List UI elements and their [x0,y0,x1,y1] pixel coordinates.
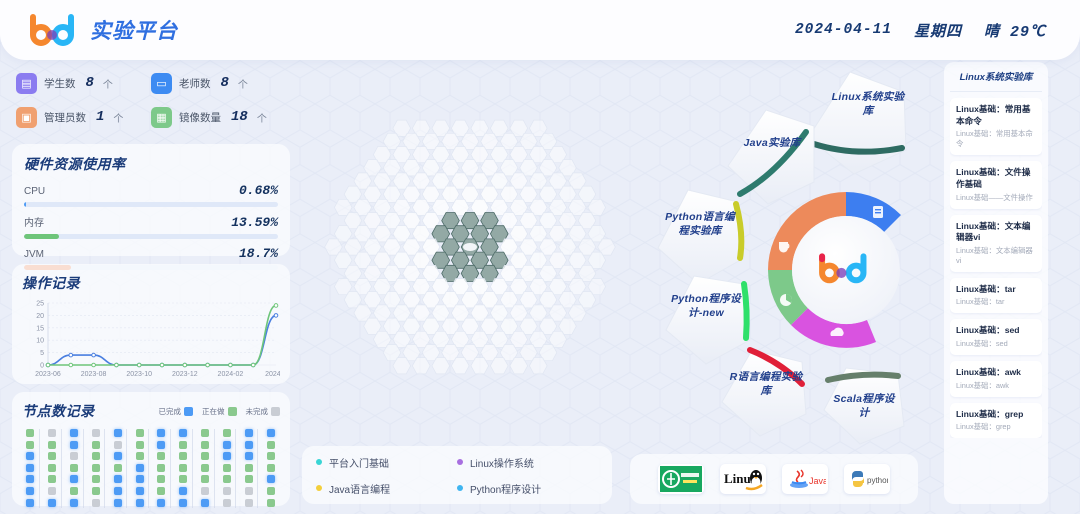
lab-list-item[interactable]: Linux基础：awkLinux基础：awk [950,361,1042,397]
hardware-usage-panel: 硬件资源使用率 CPU 0.68% 内存 13.59% JVM 18.7% [12,144,290,256]
lab-item-title: Linux基础：sed [956,325,1036,337]
node-cell[interactable] [48,499,56,507]
course-legend-item[interactable]: 平台入门基础 [316,455,457,470]
lab-item-subtitle: Linux基础：grep [956,422,1036,432]
usage-bar-memory: 内存 13.59% [24,214,278,239]
legend-todo: 未完成 [246,406,281,417]
lab-item-title: Linux基础：常用基本命令 [956,104,1036,127]
node-cell[interactable] [92,464,100,472]
node-cell[interactable] [267,441,275,449]
stat-label: 管理员数 [44,110,86,125]
node-cell[interactable] [245,499,253,507]
stat-images: ▦ 镜像数量 18 个 [151,102,286,132]
node-cell[interactable] [92,499,100,507]
lab-list-item[interactable]: Linux基础：常用基本命令Linux基础：常用基本命令 [950,98,1042,155]
stat-admins: ▣ 管理员数 1 个 [16,102,151,132]
node-grid [22,429,280,508]
node-cell[interactable] [223,441,231,449]
legend-label: 已完成 [159,406,182,417]
hex-map[interactable] [300,72,640,432]
node-cell[interactable] [92,487,100,495]
node-cell[interactable] [70,499,78,507]
node-cell[interactable] [157,452,165,460]
donut-icon-book [873,206,883,218]
legend-swatch [184,407,193,416]
node-cell[interactable] [136,464,144,472]
node-cell[interactable] [179,487,187,495]
node-cell[interactable] [157,441,165,449]
campus-logo-icon[interactable] [658,464,704,494]
java-logo-icon[interactable]: Java [782,464,828,494]
node-cell[interactable] [245,487,253,495]
node-cell[interactable] [201,499,209,507]
node-cell[interactable] [223,475,231,483]
node-cell[interactable] [157,464,165,472]
pentagon-java[interactable] [728,110,814,204]
lab-item-subtitle: Linux基础：常用基本命令 [956,129,1036,149]
svg-text:Java: Java [809,476,826,486]
course-legend-item[interactable]: Java语言编程 [316,481,457,496]
node-cell[interactable] [26,499,34,507]
node-cell[interactable] [70,475,78,483]
panel-title: 硬件资源使用率 [24,154,278,174]
node-cell[interactable] [245,464,253,472]
lab-list-item[interactable]: Linux基础：sedLinux基础：sed [950,319,1042,355]
node-cell[interactable] [70,441,78,449]
node-cell[interactable] [267,429,275,437]
svg-text:2024-0: 2024-0 [265,371,280,378]
operation-log-chart: 05101520252023-062023-082023-102023-1220… [22,295,280,383]
node-cell[interactable] [26,464,34,472]
node-cell[interactable] [136,452,144,460]
usage-value: 0.68% [239,183,278,198]
usage-value: 13.59% [231,215,278,230]
node-cell[interactable] [92,429,100,437]
node-cell[interactable] [245,475,253,483]
donut-chart[interactable] [768,192,901,348]
stat-label: 学生数 [44,76,76,91]
node-cell[interactable] [157,499,165,507]
course-legend-panel: 平台入门基础 Linux操作系统 Java语言编程 Python程序设计 [302,446,612,504]
node-cell[interactable] [157,487,165,495]
lab-list-item[interactable]: Linux基础：tarLinux基础：tar [950,278,1042,314]
operation-log-panel: 操作记录 05101520252023-062023-082023-102023… [12,264,290,384]
stat-value: 8 [86,75,94,91]
stat-value: 8 [221,75,229,91]
node-cell[interactable] [114,441,122,449]
app-header: 实验平台 2024-04-11 星期四 晴 29℃ [0,0,1080,60]
progress-track [24,202,278,207]
node-cell[interactable] [223,452,231,460]
stat-unit: 个 [238,76,248,91]
lab-item-title: Linux基础：awk [956,367,1036,379]
stat-value: 18 [231,109,248,125]
svg-text:2023-12: 2023-12 [172,371,198,378]
node-cell[interactable] [223,429,231,437]
stat-teachers: ▭ 老师数 8 个 [151,68,286,98]
node-cell[interactable] [26,452,34,460]
weather-info: 晴 29℃ [984,20,1046,41]
stat-students: ▤ 学生数 8 个 [16,68,151,98]
svg-text:python: python [867,476,888,485]
stat-unit: 个 [257,110,267,125]
node-cell[interactable] [26,487,34,495]
pentagon-scala[interactable] [824,368,904,444]
svg-text:2023-06: 2023-06 [35,371,61,378]
node-cell[interactable] [267,452,275,460]
brand[interactable]: 实验平台 [26,13,178,47]
stat-label: 老师数 [179,76,211,91]
svg-text:15: 15 [36,325,44,332]
bd-logo-icon [26,13,78,47]
node-column [22,429,40,508]
node-cell[interactable] [70,429,78,437]
course-dot-icon [457,459,463,465]
node-cell[interactable] [179,475,187,483]
legend-swatch [228,407,237,416]
node-column [109,429,127,508]
node-cell[interactable] [92,452,100,460]
node-cell[interactable] [179,441,187,449]
node-cell[interactable] [48,487,56,495]
node-column [219,429,237,508]
header-info: 2024-04-11 星期四 晴 29℃ [795,20,1046,41]
node-cell[interactable] [114,464,122,472]
svg-text:2023-08: 2023-08 [81,371,107,378]
node-cell[interactable] [136,429,144,437]
legend-doing: 正在做 [202,406,237,417]
node-cell[interactable] [48,464,56,472]
node-cell[interactable] [70,452,78,460]
node-cell[interactable] [201,452,209,460]
progress-fill [24,202,26,207]
course-label: Python程序设计 [470,481,541,496]
node-cell[interactable] [92,475,100,483]
svg-text:2023-10: 2023-10 [126,371,152,378]
lab-item-title: Linux基础：文本编辑器vi [956,221,1036,244]
lab-library-cluster: Linux系统实验库 Java实验库 Python语言编程实验库 Python程… [648,62,948,442]
panel-title: 节点数记录 [22,401,95,421]
node-column [153,429,171,508]
lab-item-title: Linux基础：文件操作基础 [956,167,1036,190]
hex-map-marker[interactable] [463,243,477,251]
node-cell[interactable] [48,441,56,449]
node-legend: 已完成 正在做 未完成 [159,406,281,417]
stat-label: 镜像数量 [179,110,221,125]
lab-list-item[interactable]: Linux基础：文件操作基础Linux基础——文件操作 [950,161,1042,208]
node-column [262,429,280,508]
course-dot-icon [316,459,322,465]
legend-done: 已完成 [159,406,194,417]
progress-fill [24,234,59,239]
node-record-panel: 节点数记录 已完成 正在做 未完成 [12,392,290,506]
node-cell[interactable] [114,452,122,460]
course-legend-item[interactable]: Python程序设计 [457,481,598,496]
node-column [44,429,62,508]
lab-item-subtitle: Linux基础：文本编辑器vi [956,246,1036,266]
current-date: 2024-04-11 [795,22,892,38]
student-icon: ▤ [16,73,37,94]
node-cell[interactable] [26,441,34,449]
node-cell[interactable] [114,475,122,483]
lab-item-subtitle: Linux基础：awk [956,381,1036,391]
python-logo-icon[interactable]: python [844,464,890,494]
node-cell[interactable] [114,429,122,437]
node-column [88,429,106,508]
node-cell[interactable] [267,475,275,483]
lab-list: Linux基础：常用基本命令Linux基础：常用基本命令Linux基础：文件操作… [950,98,1042,438]
node-cell[interactable] [114,487,122,495]
course-label: 平台入门基础 [329,455,389,470]
node-cell[interactable] [48,452,56,460]
svg-text:25: 25 [36,301,44,308]
node-cell[interactable] [267,487,275,495]
current-weekday: 星期四 [914,20,962,41]
node-cell[interactable] [179,452,187,460]
node-cell[interactable] [201,475,209,483]
node-cell[interactable] [201,441,209,449]
lab-list-item[interactable]: Linux基础：grepLinux基础：grep [950,403,1042,439]
app-title: 实验平台 [90,15,178,45]
node-column [240,429,258,508]
node-column [131,429,149,508]
stat-unit: 个 [103,76,113,91]
linux-logo-icon[interactable]: Linux [720,464,766,494]
node-cell[interactable] [201,464,209,472]
lab-item-subtitle: Linux基础：sed [956,339,1036,349]
node-cell[interactable] [157,475,165,483]
course-label: Linux操作系统 [470,455,534,470]
svg-text:10: 10 [36,338,44,345]
pentagon-python-new[interactable] [666,276,750,364]
node-cell[interactable] [136,487,144,495]
usage-bar-cpu: CPU 0.68% [24,183,278,207]
node-cell[interactable] [179,464,187,472]
node-cell[interactable] [70,464,78,472]
node-cell[interactable] [48,429,56,437]
usage-label: CPU [24,186,45,197]
svg-text:0: 0 [40,363,44,370]
stat-unit: 个 [113,110,123,125]
progress-track [24,234,278,239]
node-cell[interactable] [136,441,144,449]
legend-swatch [271,407,280,416]
node-column [197,429,215,508]
node-cell[interactable] [92,441,100,449]
lab-list-title: Linux系统实验库 [950,71,1042,92]
stats-row: ▤ 学生数 8 个 ▭ 老师数 8 个 ▣ 管理员数 1 个 ▦ 镜像数量 18… [16,68,286,132]
node-cell[interactable] [136,499,144,507]
node-cell[interactable] [245,452,253,460]
course-legend-item[interactable]: Linux操作系统 [457,455,598,470]
node-cell[interactable] [179,429,187,437]
panel-title: 操作记录 [22,273,280,293]
node-cell[interactable] [157,429,165,437]
pentagon-linux[interactable] [808,72,906,174]
legend-label: 正在做 [202,406,225,417]
node-cell[interactable] [267,499,275,507]
usage-value: 18.7% [239,246,278,261]
svg-text:2024-02: 2024-02 [218,371,244,378]
lab-list-item[interactable]: Linux基础：文本编辑器viLinux基础：文本编辑器vi [950,215,1042,272]
node-column [175,429,193,508]
stat-value: 1 [96,109,104,125]
pentagon-r-lang[interactable] [722,350,806,436]
svg-text:20: 20 [36,313,44,320]
course-dot-icon [457,485,463,491]
tech-logo-bar: Linux Java [630,454,918,504]
node-cell[interactable] [26,475,34,483]
admin-icon: ▣ [16,107,37,128]
usage-label: JVM [24,249,44,260]
legend-label: 未完成 [246,406,269,417]
node-column [66,429,84,508]
pentagon-python-lang[interactable] [658,190,744,284]
image-icon: ▦ [151,107,172,128]
donut-icon-pie [780,294,792,306]
usage-label: 内存 [24,214,44,229]
node-cell[interactable] [223,499,231,507]
node-cell[interactable] [70,487,78,495]
lab-item-title: Linux基础：grep [956,409,1036,421]
teacher-icon: ▭ [151,73,172,94]
course-dot-icon [316,485,322,491]
lab-list-panel: Linux系统实验库 Linux基础：常用基本命令Linux基础：常用基本命令L… [944,62,1048,504]
node-cell[interactable] [223,487,231,495]
course-label: Java语言编程 [329,481,390,496]
lab-item-subtitle: Linux基础：tar [956,297,1036,307]
node-cell[interactable] [26,429,34,437]
node-cell[interactable] [136,475,144,483]
lab-item-title: Linux基础：tar [956,284,1036,296]
svg-text:5: 5 [40,350,44,357]
node-cell[interactable] [179,499,187,507]
node-cell[interactable] [114,499,122,507]
lab-item-subtitle: Linux基础——文件操作 [956,193,1036,203]
node-cell[interactable] [245,441,253,449]
node-cell[interactable] [201,429,209,437]
node-cell[interactable] [223,464,231,472]
node-cell[interactable] [201,487,209,495]
node-cell[interactable] [267,464,275,472]
node-cell[interactable] [245,429,253,437]
node-cell[interactable] [48,475,56,483]
